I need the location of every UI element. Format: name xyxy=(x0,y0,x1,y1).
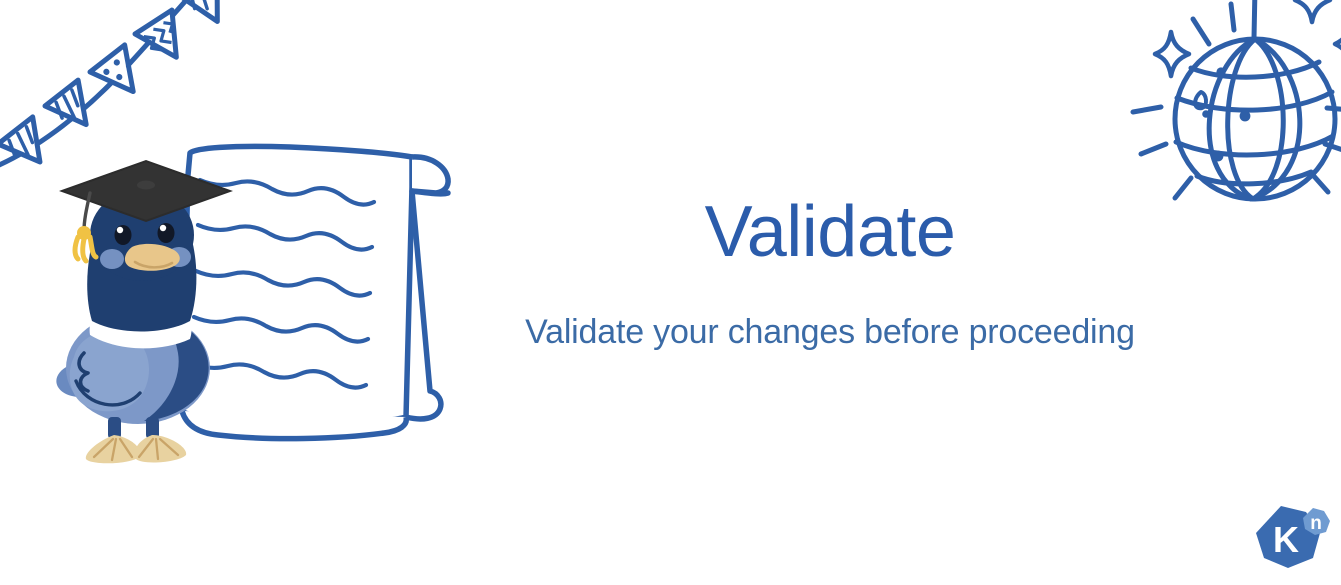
logo-badge-letter: n xyxy=(1310,513,1322,534)
brand-logo[interactable]: K n xyxy=(1248,500,1338,580)
logo-primary-letter: K xyxy=(1273,519,1299,560)
text-block: Validate Validate your changes before pr… xyxy=(470,196,1190,351)
page-title: Validate xyxy=(470,196,1190,268)
mascot-scroll-illustration xyxy=(40,135,470,475)
page-subtitle: Validate your changes before proceeding xyxy=(470,314,1190,351)
slide-canvas: Validate Validate your changes before pr… xyxy=(0,0,1341,585)
